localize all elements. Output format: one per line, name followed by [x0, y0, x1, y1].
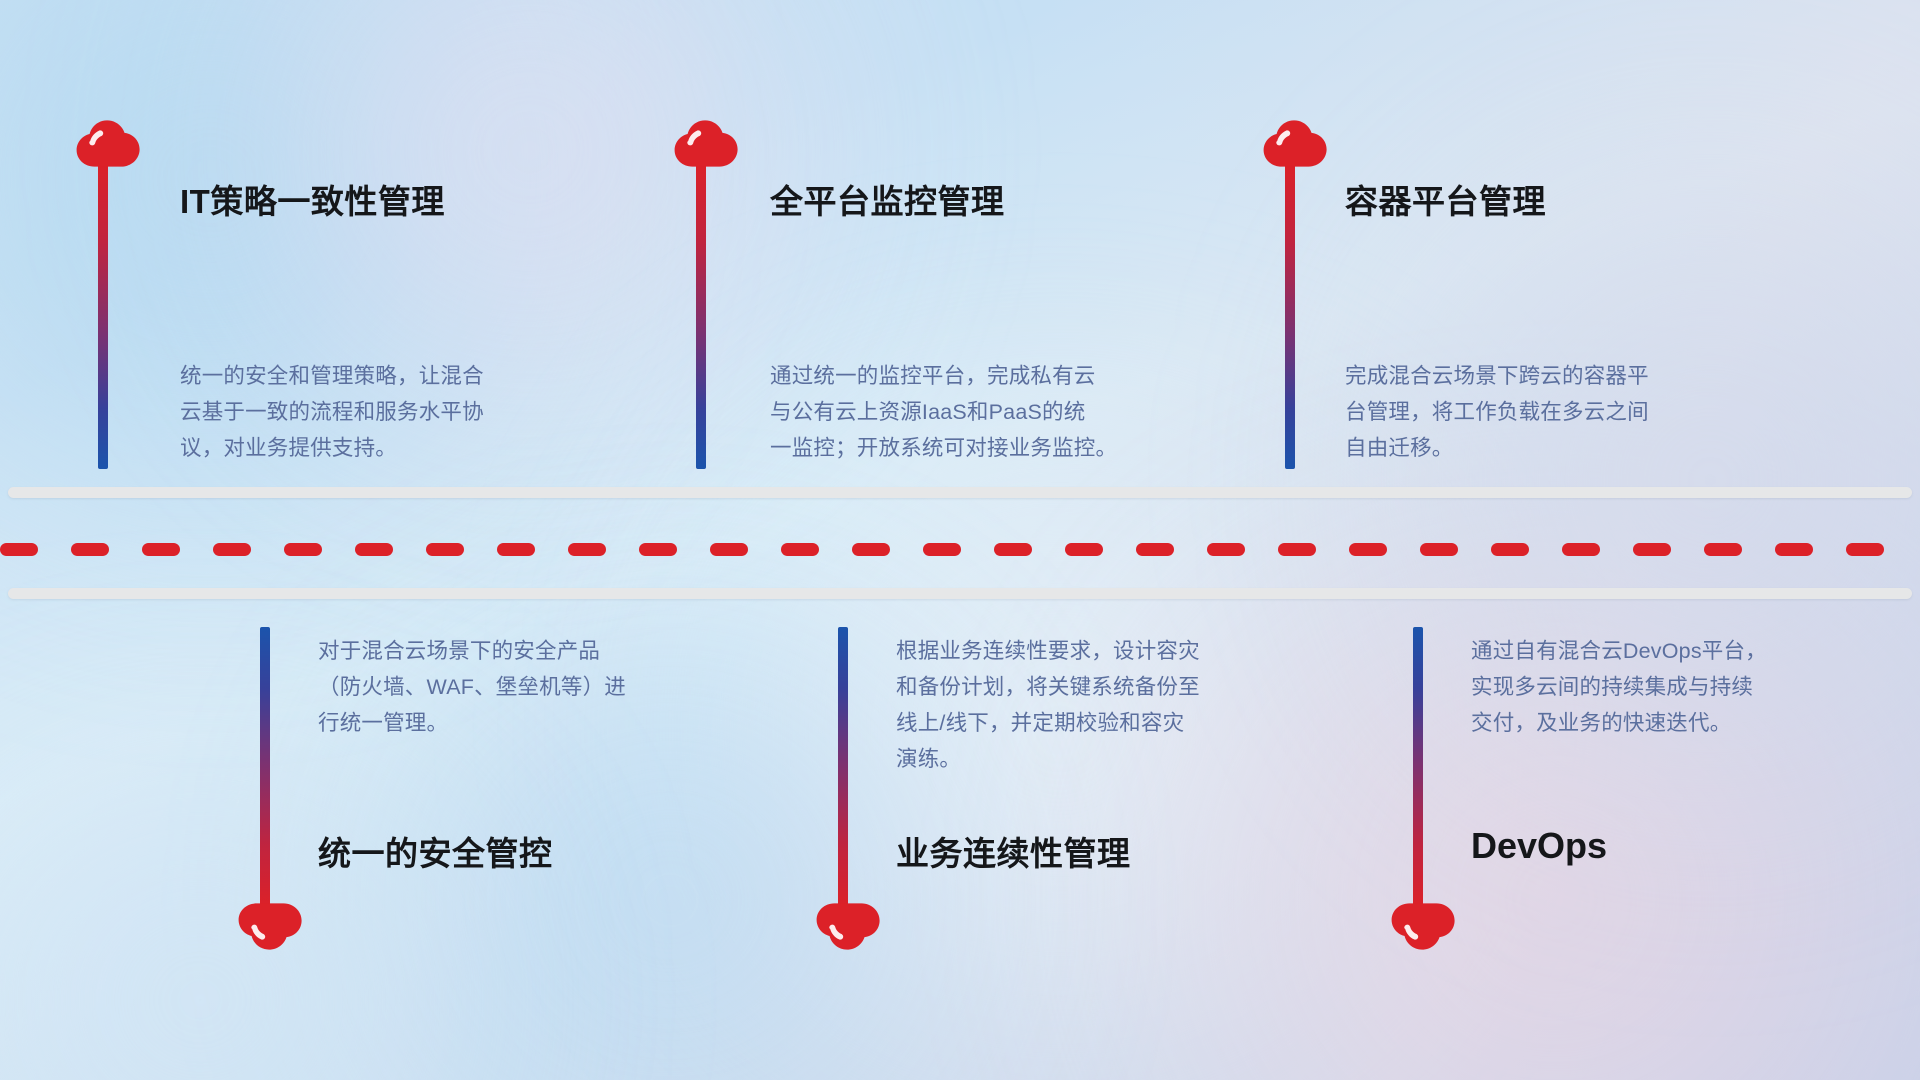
cloud-icon	[816, 903, 880, 950]
road-dash	[284, 543, 322, 556]
top-column-body-1: 统一的安全和管理策略，让混合 云基于一致的流程和服务水平协 议，对业务提供支持。	[180, 358, 610, 466]
road-dash	[1775, 543, 1813, 556]
road-dash	[213, 543, 251, 556]
road-dash	[0, 543, 38, 556]
road-dash	[923, 543, 961, 556]
road-dash	[142, 543, 180, 556]
stem-top-2	[696, 163, 706, 469]
road-dash	[1491, 543, 1529, 556]
road-dash	[1136, 543, 1174, 556]
diagram-canvas: IT策略一致性管理 统一的安全和管理策略，让混合 云基于一致的流程和服务水平协 …	[0, 0, 1920, 1080]
road-edge-line-top	[8, 487, 1912, 498]
road-dash	[426, 543, 464, 556]
road-dash	[994, 543, 1032, 556]
road-dash	[1349, 543, 1387, 556]
bottom-column-body-2: 根据业务连续性要求，设计容灾 和备份计划，将关键系统备份至 线上/线下，并定期校…	[896, 633, 1326, 777]
road-center-dashes	[0, 542, 1920, 556]
road-dash	[497, 543, 535, 556]
bottom-column-body-3: 通过自有混合云DevOps平台， 实现多云间的持续集成与持续 交付，及业务的快速…	[1471, 633, 1891, 741]
road-dash	[1846, 543, 1884, 556]
road-dash	[1065, 543, 1103, 556]
top-column-body-3: 完成混合云场景下跨云的容器平 台管理，将工作负载在多云之间 自由迁移。	[1345, 358, 1785, 466]
cloud-icon	[674, 120, 738, 167]
stem-bottom-2	[838, 627, 848, 907]
cloud-icon	[1391, 903, 1455, 950]
road-dash	[852, 543, 890, 556]
road-dash	[1704, 543, 1742, 556]
cloud-icon	[1263, 120, 1327, 167]
bottom-column-title-2: 业务连续性管理	[896, 827, 1131, 875]
road-dash	[1633, 543, 1671, 556]
road-dash	[1420, 543, 1458, 556]
road-dash	[1562, 543, 1600, 556]
top-column-body-2: 通过统一的监控平台，完成私有云 与公有云上资源IaaS和PaaS的统 一监控；开…	[770, 358, 1230, 466]
road-dash	[639, 543, 677, 556]
road-dash	[1207, 543, 1245, 556]
road-edge-line-bottom	[8, 588, 1912, 599]
road-dash	[568, 543, 606, 556]
stem-top-3	[1285, 163, 1295, 469]
stem-bottom-1	[260, 627, 270, 907]
road-dash	[355, 543, 393, 556]
top-column-title-2: 全平台监控管理	[770, 175, 1005, 223]
road-dash	[710, 543, 748, 556]
bottom-column-body-1: 对于混合云场景下的安全产品 （防火墙、WAF、堡垒机等）进 行统一管理。	[318, 633, 748, 741]
top-column-title-3: 容器平台管理	[1345, 175, 1546, 223]
cloud-icon	[238, 903, 302, 950]
road-dash	[1278, 543, 1316, 556]
road-dash	[781, 543, 819, 556]
top-column-title-1: IT策略一致性管理	[180, 175, 445, 223]
cloud-icon	[76, 120, 140, 167]
stem-bottom-3	[1413, 627, 1423, 907]
bottom-column-title-3: DevOps	[1471, 825, 1607, 867]
bottom-column-title-1: 统一的安全管控	[318, 827, 553, 875]
stem-top-1	[98, 163, 108, 469]
road-dash	[71, 543, 109, 556]
